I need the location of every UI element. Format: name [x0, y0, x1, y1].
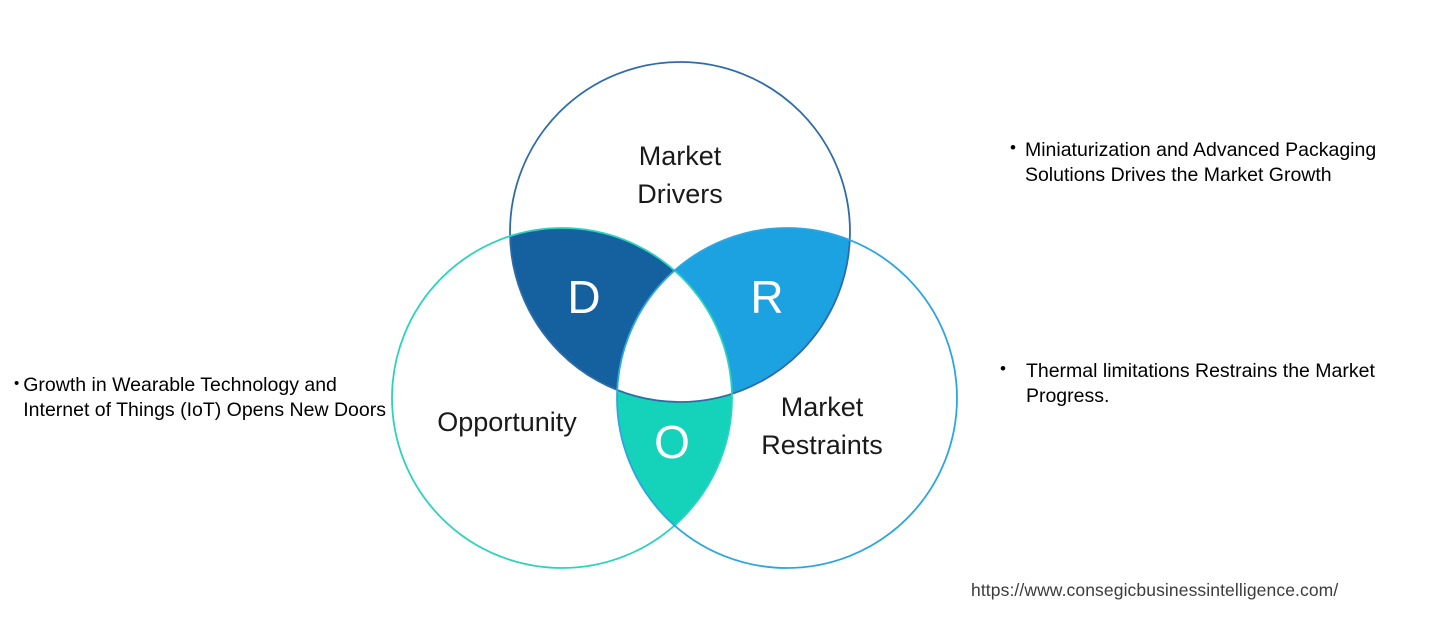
lens-letter-restraints: R [750, 271, 783, 323]
circle-label-restraints-line1: Market [781, 392, 864, 422]
circle-label-opportunity: Opportunity [437, 407, 577, 437]
lens-letter-drivers: D [567, 271, 600, 323]
bullet-icon: • [14, 374, 23, 393]
callout-opportunity-text: Growth in Wearable Technology and Intern… [23, 373, 386, 423]
callout-restraint-text: Thermal limitations Restrains the Market… [1026, 359, 1410, 409]
callout-opportunity: • Growth in Wearable Technology and Inte… [14, 373, 386, 423]
circle-label-restraints-line2: Restraints [761, 430, 883, 460]
callout-driver-text: Miniaturization and Advanced Packaging S… [1025, 138, 1410, 188]
bullet-icon: • [1000, 358, 1026, 380]
circle-label-drivers-line2: Drivers [637, 179, 723, 209]
lens-letter-opportunity: O [654, 416, 690, 468]
venn-diagram-stage: Market Drivers Opportunity Market Restra… [0, 0, 1453, 633]
callout-driver: • Miniaturization and Advanced Packaging… [1010, 138, 1410, 188]
callout-restraint: • Thermal limitations Restrains the Mark… [1000, 359, 1410, 409]
source-url[interactable]: https://www.consegicbusinessintelligence… [971, 580, 1338, 601]
circle-label-drivers-line1: Market [639, 141, 722, 171]
venn-diagram-svg: Market Drivers Opportunity Market Restra… [0, 0, 1453, 633]
bullet-icon: • [1010, 137, 1025, 159]
